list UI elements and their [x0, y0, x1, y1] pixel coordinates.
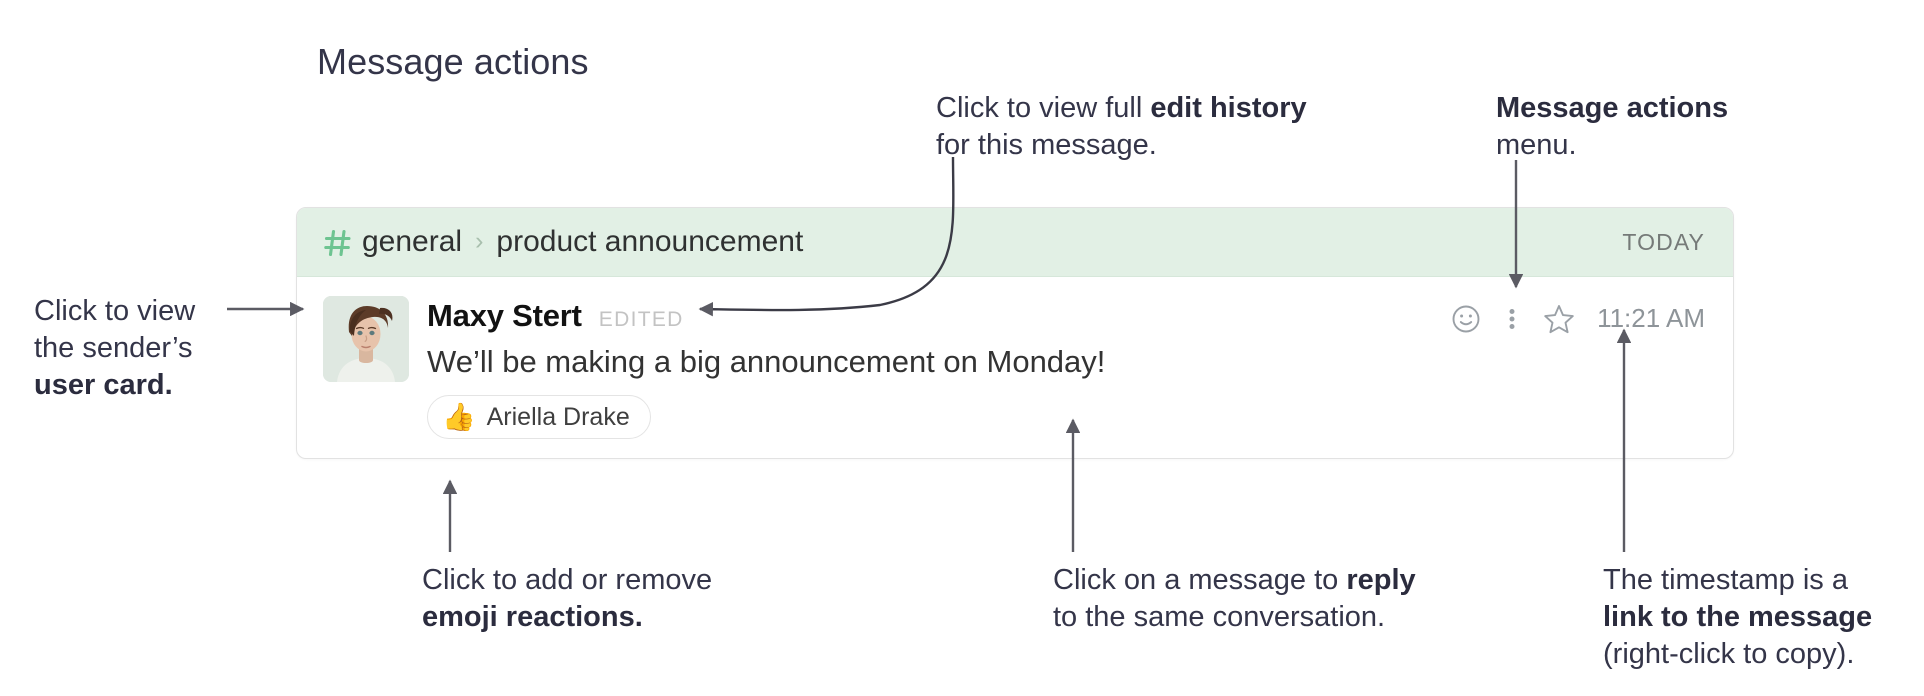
reaction-list: 👍 Ariella Drake	[427, 395, 1705, 439]
hash-icon	[323, 228, 353, 258]
emoji-picker-icon[interactable]	[1451, 304, 1481, 334]
recipient-bar[interactable]: general › product announcement TODAY	[297, 208, 1733, 277]
annotation-timestamp-link-line3: (right-click to copy).	[1603, 636, 1872, 673]
vertical-dots-icon[interactable]	[1507, 304, 1517, 334]
reaction-label: Ariella Drake	[487, 403, 630, 432]
annotation-user-card-line2: the sender’s	[34, 330, 195, 367]
annotation-emoji-reactions-line1: Click to add or remove	[422, 562, 712, 599]
annotation-actions-menu-line2: menu.	[1496, 127, 1728, 164]
reaction-pill[interactable]: 👍 Ariella Drake	[427, 395, 651, 439]
annotation-user-card: Click to view the sender’s user card.	[34, 293, 195, 404]
annotation-user-card-line3: user card.	[34, 369, 173, 401]
annotation-emoji-reactions-line2: emoji reactions.	[422, 601, 643, 633]
timestamp-link[interactable]: 11:21 AM	[1597, 303, 1705, 334]
sender-name[interactable]: Maxy Stert	[427, 298, 582, 334]
message-actions-bar: 11:21 AM	[1451, 303, 1705, 334]
chevron-right-icon: ›	[475, 229, 483, 254]
annotation-reply-line1-bold: reply	[1346, 564, 1415, 596]
annotation-timestamp-link-line2: link to the message	[1603, 601, 1872, 633]
annotation-edit-history-line2: for this message.	[936, 127, 1307, 164]
annotation-edit-history-line1-plain: Click to view full	[936, 92, 1150, 124]
annotation-reply-line1-plain: Click on a message to	[1053, 564, 1346, 596]
annotation-actions-menu-line1: Message actions	[1496, 92, 1728, 124]
annotation-reply-line2: to the same conversation.	[1053, 599, 1416, 636]
edited-label[interactable]: EDITED	[599, 308, 684, 332]
date-label: TODAY	[1622, 229, 1705, 256]
annotation-emoji-reactions: Click to add or remove emoji reactions.	[422, 562, 712, 636]
message-row[interactable]: Maxy Stert EDITED We’ll be making a big …	[297, 277, 1733, 439]
annotation-edit-history-line1-bold: edit history	[1150, 92, 1306, 124]
annotation-actions-menu: Message actions menu.	[1496, 90, 1728, 164]
thumbs-up-emoji: 👍	[442, 404, 476, 431]
star-icon[interactable]	[1543, 303, 1575, 334]
avatar[interactable]	[323, 296, 409, 382]
annotation-reply: Click on a message to reply to the same …	[1053, 562, 1416, 636]
topic-name[interactable]: product announcement	[496, 225, 803, 259]
message-card[interactable]: general › product announcement TODAY	[296, 207, 1734, 459]
annotation-edit-history: Click to view full edit history for this…	[936, 90, 1307, 164]
message-text[interactable]: We’ll be making a big announcement on Mo…	[427, 343, 1705, 381]
stream-name[interactable]: general	[362, 225, 462, 259]
annotation-timestamp-link-line1: The timestamp is a	[1603, 562, 1872, 599]
page-title: Message actions	[317, 40, 589, 84]
annotation-timestamp-link: The timestamp is a link to the message (…	[1603, 562, 1872, 673]
annotation-user-card-line1: Click to view	[34, 293, 195, 330]
